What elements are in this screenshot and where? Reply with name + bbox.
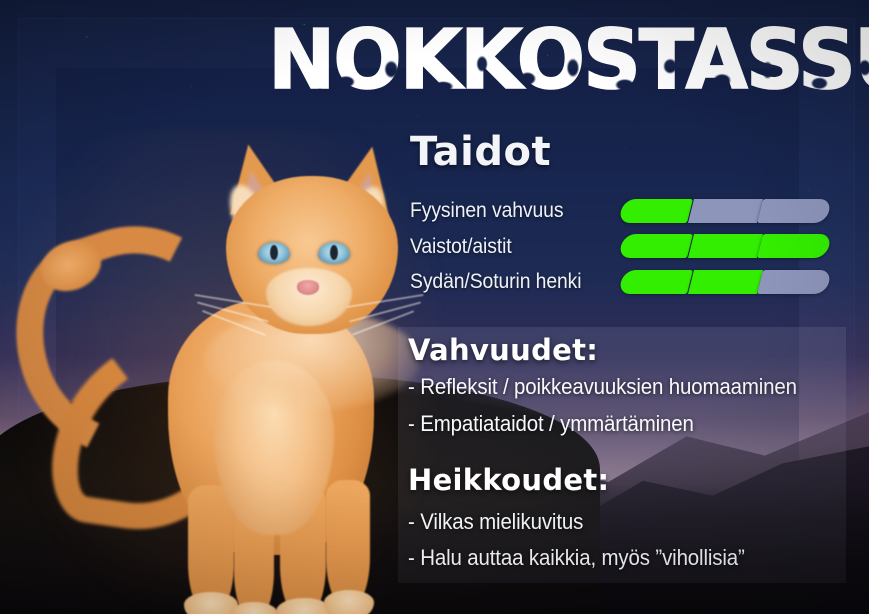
- kitten-paw: [324, 590, 374, 614]
- skill-row: Fyysinen vahvuus: [410, 193, 840, 229]
- skill-row: Vaistot/aistit: [410, 229, 840, 265]
- weaknesses-item: - Vilkas mielikuvitus: [408, 509, 583, 535]
- skill-rating-bar: [618, 270, 832, 294]
- kitten-leg: [326, 480, 370, 608]
- skill-label: Fyysinen vahvuus: [410, 198, 595, 223]
- weaknesses-heading: Heikkoudet:: [408, 463, 609, 497]
- character-card: NOKKOSTASSU Taidot Fyysinen vahvuus Vais…: [0, 0, 869, 614]
- skill-segment-filled: [618, 270, 693, 294]
- skill-label: Vaistot/aistit: [410, 234, 595, 259]
- card-title-text: NOKKOSTASSU: [268, 21, 869, 99]
- weaknesses-item: - Halu auttaa kaikkia, myös ”vihollisia”: [408, 545, 745, 571]
- skill-row: Sydän/Soturin henki: [410, 264, 840, 300]
- skill-rating-bar: [618, 234, 832, 258]
- card-title: NOKKOSTASSU: [268, 18, 848, 102]
- kitten-pupil-right: [330, 245, 338, 260]
- skill-segment-empty: [688, 199, 763, 223]
- skill-segment-filled: [618, 199, 693, 223]
- kitten-nose: [297, 280, 319, 295]
- skills-list: Fyysinen vahvuus Vaistot/aistit Sydän/So…: [410, 193, 840, 300]
- kitten-pupil-left: [270, 245, 278, 260]
- strengths-item: - Empatiataidot / ymmärtäminen: [408, 411, 694, 437]
- skill-rating-bar: [618, 199, 832, 223]
- skill-segment-filled: [688, 270, 763, 294]
- strengths-heading: Vahvuudet:: [408, 333, 598, 367]
- kitten-photo: [18, 150, 418, 614]
- skills-heading: Taidot: [410, 129, 551, 175]
- skill-segment-filled: [757, 234, 832, 258]
- strengths-item: - Refleksit / poikkeavuuksien huomaamine…: [408, 374, 797, 400]
- skill-label: Sydän/Soturin henki: [410, 269, 595, 294]
- skill-segment-empty: [757, 199, 832, 223]
- skill-segment-filled: [688, 234, 763, 258]
- skill-segment-filled: [618, 234, 693, 258]
- skill-segment-empty: [757, 270, 832, 294]
